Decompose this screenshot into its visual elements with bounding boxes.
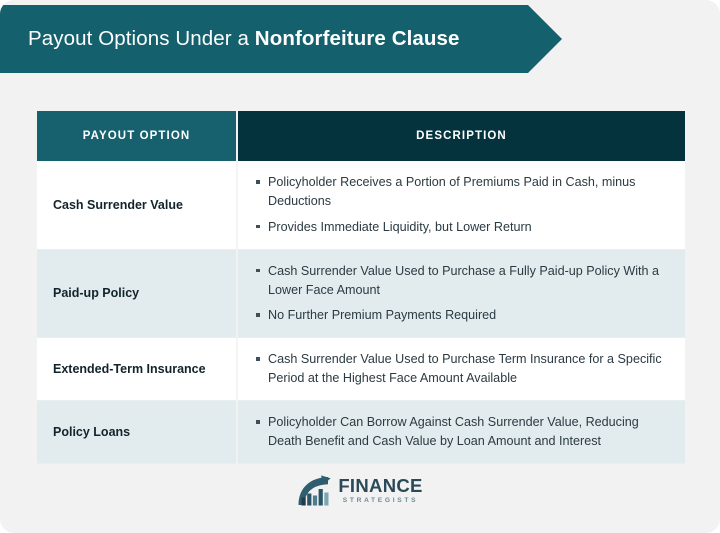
bar-chart-arrow-icon xyxy=(297,475,331,507)
page-title-emphasis: Nonforfeiture Clause xyxy=(255,27,460,50)
cell-description: Cash Surrender Value Used to Purchase a … xyxy=(238,250,685,339)
logo-text: FINANCE STRATEGISTS xyxy=(338,477,422,504)
table-row: Policy Loans Policyholder Can Borrow Aga… xyxy=(37,401,685,464)
payout-options-table: PAYOUT OPTION DESCRIPTION Cash Surrender… xyxy=(37,111,685,464)
table-row: Extended-Term Insurance Cash Surrender V… xyxy=(37,338,685,401)
description-bullet-list: Policyholder Receives a Portion of Premi… xyxy=(238,173,669,237)
payout-options-table-wrapper: PAYOUT OPTION DESCRIPTION Cash Surrender… xyxy=(37,111,685,464)
table-header-row: PAYOUT OPTION DESCRIPTION xyxy=(37,111,685,161)
table-body: Cash Surrender Value Policyholder Receiv… xyxy=(37,161,685,464)
logo-subtitle: STRATEGISTS xyxy=(338,498,422,505)
description-bullet-list: Cash Surrender Value Used to Purchase Te… xyxy=(238,350,669,388)
cell-description: Policyholder Receives a Portion of Premi… xyxy=(238,161,685,250)
description-bullet-list: Cash Surrender Value Used to Purchase a … xyxy=(238,262,669,326)
list-item: Cash Surrender Value Used to Purchase a … xyxy=(238,262,669,300)
list-item: Provides Immediate Liquidity, but Lower … xyxy=(238,218,669,237)
cell-payout-option: Policy Loans xyxy=(37,401,238,464)
list-item: No Further Premium Payments Required xyxy=(238,306,669,325)
cell-payout-option: Extended-Term Insurance xyxy=(37,338,238,401)
table-row: Paid-up Policy Cash Surrender Value Used… xyxy=(37,250,685,339)
cell-description: Cash Surrender Value Used to Purchase Te… xyxy=(238,338,685,401)
logo-wordmark: FINANCE xyxy=(338,477,422,496)
column-header-payout-option: PAYOUT OPTION xyxy=(37,111,238,161)
list-item: Policyholder Receives a Portion of Premi… xyxy=(238,173,669,211)
column-header-description: DESCRIPTION xyxy=(238,111,685,161)
table-row: Cash Surrender Value Policyholder Receiv… xyxy=(37,161,685,250)
page-title: Payout Options Under a Nonforfeiture Cla… xyxy=(28,27,460,51)
list-item: Policyholder Can Borrow Against Cash Sur… xyxy=(238,413,669,451)
description-bullet-list: Policyholder Can Borrow Against Cash Sur… xyxy=(238,413,669,451)
page-title-prefix: Payout Options Under a xyxy=(28,27,255,50)
page-card: Payout Options Under a Nonforfeiture Cla… xyxy=(0,0,720,533)
list-item: Cash Surrender Value Used to Purchase Te… xyxy=(238,350,669,388)
cell-description: Policyholder Can Borrow Against Cash Sur… xyxy=(238,401,685,464)
cell-payout-option: Cash Surrender Value xyxy=(37,161,238,250)
brand-logo: FINANCE STRATEGISTS xyxy=(0,470,720,512)
header-banner: Payout Options Under a Nonforfeiture Cla… xyxy=(0,5,562,73)
table-header: PAYOUT OPTION DESCRIPTION xyxy=(37,111,685,161)
cell-payout-option: Paid-up Policy xyxy=(37,250,238,339)
